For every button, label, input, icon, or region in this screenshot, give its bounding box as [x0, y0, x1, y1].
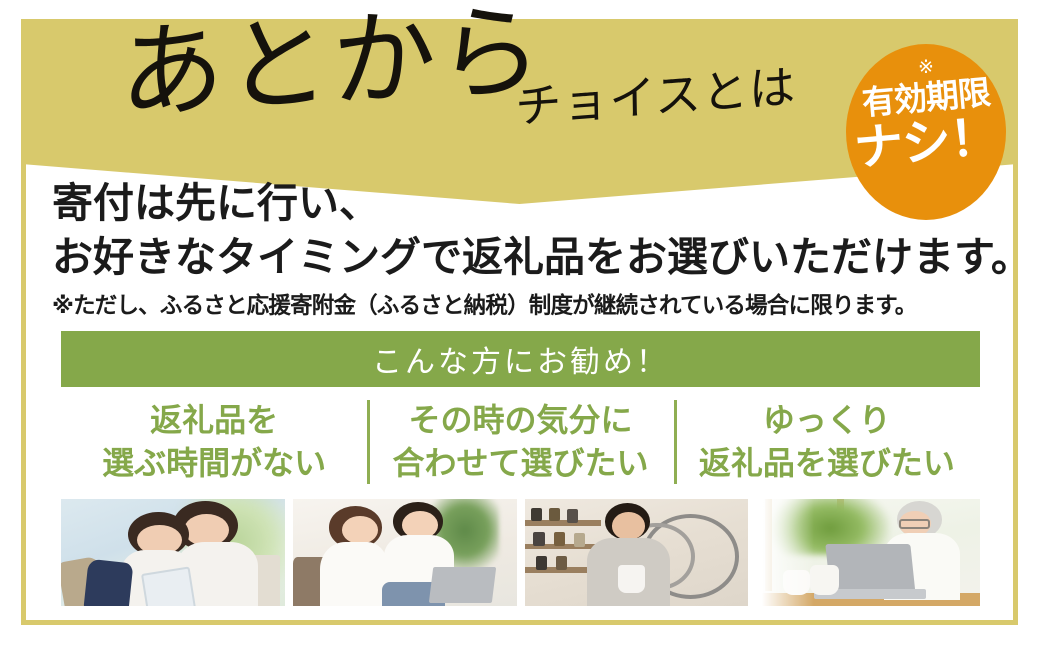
photo1-tablet [141, 566, 196, 606]
column-3-line-1: ゆっくり [763, 399, 891, 442]
column-2-line-2: 合わせて選びたい [392, 442, 648, 485]
recommend-column-3: ゆっくり 返礼品を選びたい [674, 396, 980, 488]
recommend-bar-label: こんな方にお勧め！ [372, 337, 669, 381]
photo-strip [61, 499, 980, 606]
lead-copy: 寄付は先に行い、 お好きなタイミングで返礼品をお選びいただけます。 [52, 176, 992, 284]
validity-badge: ※ 有効期限 ナシ！ [846, 44, 1006, 220]
lead-line-1: 寄付は先に行い、 [52, 176, 992, 230]
photo2-woman-body [320, 542, 387, 606]
lead-line-2: お好きなタイミングで返礼品をお選びいただけます。 [52, 230, 992, 284]
photo3-jar [574, 533, 585, 547]
photo4-left-fade [756, 499, 814, 606]
badge-asterisk-icon: ※ [918, 58, 934, 77]
photo-parent-child-tablet [61, 499, 285, 606]
recommend-column-2: その時の気分に 合わせて選びたい [367, 396, 673, 488]
badge-line2: ナシ！ [852, 111, 1000, 172]
recommend-bar: こんな方にお勧め！ [61, 331, 980, 387]
photo2-woman-face [342, 516, 378, 544]
recommend-columns: 返礼品を 選ぶ時間がない その時の気分に 合わせて選びたい ゆっくり 返礼品を選… [61, 396, 980, 488]
photo3-jar [533, 532, 544, 546]
photo3-jar [531, 508, 542, 522]
photo3-man-face [612, 512, 646, 540]
column-1-line-2: 選ぶ時間がない [102, 442, 326, 485]
photo3-jar [536, 556, 547, 570]
column-2-line-1: その時の気分に [408, 399, 632, 442]
atokara-choice-banner: あとから チョイスとは ※ 有効期限 ナシ！ 寄付は先に行い、 お好きなタイミン… [0, 0, 1041, 647]
column-1-line-1: 返礼品を [150, 399, 278, 442]
photo1-cushion-navy [83, 559, 133, 606]
photo-couple-laptop [293, 499, 517, 606]
recommend-column-1: 返礼品を 選ぶ時間がない [61, 396, 367, 488]
photo3-jar [567, 509, 578, 523]
photo3-mug [618, 565, 645, 593]
photo-man-mug [525, 499, 749, 606]
photo3-jar [554, 532, 565, 546]
disclaimer-note: ※ただし、ふるさと応援寄附金（ふるさと納税）制度が継続されている場合に限ります。 [52, 288, 916, 320]
photo3-jar [556, 556, 567, 570]
photo-senior-woman-laptop [756, 499, 980, 606]
photo3-shelf-top [525, 520, 601, 525]
photo3-jar [549, 508, 560, 522]
photo4-glasses-icon [899, 519, 930, 528]
photo2-laptop [429, 567, 496, 603]
column-3-line-2: 返礼品を選びたい [699, 442, 955, 485]
